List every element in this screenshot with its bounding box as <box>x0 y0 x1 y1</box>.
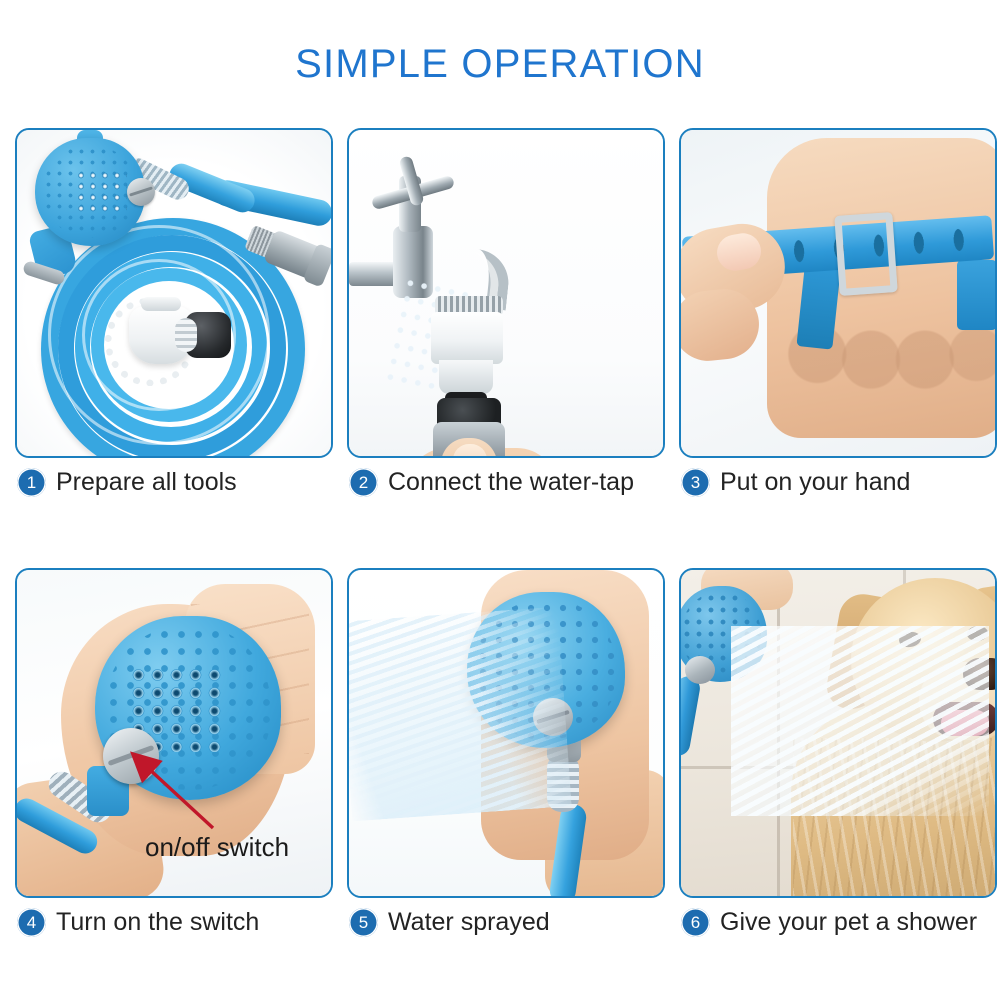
step-5-caption: 5 Water sprayed <box>349 908 550 937</box>
step-card-4: on/off switch 4 Turn on the switch <box>15 568 331 1008</box>
step-caption-text: Connect the water-tap <box>388 468 634 497</box>
step-1-frame <box>15 128 333 458</box>
onoff-switch-knob <box>127 178 155 206</box>
annotation-arrow-icon <box>125 748 225 834</box>
step-caption-text: Turn on the switch <box>56 908 259 937</box>
step-badge: 3 <box>681 468 710 497</box>
step-badge: 6 <box>681 908 710 937</box>
step-6-caption: 6 Give your pet a shower <box>681 908 977 937</box>
step-1-photo <box>17 130 331 456</box>
step-badge: 2 <box>349 468 378 497</box>
step-4-caption: 4 Turn on the switch <box>17 908 259 937</box>
step-caption-text: Give your pet a shower <box>720 908 977 937</box>
page-title: SIMPLE OPERATION <box>0 42 1000 87</box>
infographic-page: SIMPLE OPERATION <box>0 0 1000 1000</box>
step-badge: 1 <box>17 468 46 497</box>
step-card-3: 3 Put on your hand <box>679 128 995 568</box>
strap-buckle <box>834 212 897 296</box>
step-card-1: 1 Prepare all tools <box>15 128 331 568</box>
step-3-caption: 3 Put on your hand <box>681 468 910 497</box>
step-badge: 5 <box>349 908 378 937</box>
step-card-5: 5 Water sprayed <box>347 568 663 1008</box>
strap-tail <box>957 260 995 330</box>
step-card-2: 2 Connect the water-tap <box>347 128 663 568</box>
step-6-photo <box>681 570 995 896</box>
step-3-frame <box>679 128 997 458</box>
step-1-caption: 1 Prepare all tools <box>17 468 237 497</box>
step-caption-text: Prepare all tools <box>56 468 237 497</box>
step-4-photo: on/off switch <box>17 570 331 896</box>
steps-row-bottom: on/off switch 4 Turn on the switch <box>15 568 995 1008</box>
adapter-lower-neck <box>439 360 493 394</box>
sprayer-jet-holes <box>75 170 127 216</box>
steps-row-top: 1 Prepare all tools <box>15 128 995 568</box>
onoff-switch-annotation-label: on/off switch <box>145 832 289 863</box>
step-4-frame: on/off switch <box>15 568 333 898</box>
step-badge: 4 <box>17 908 46 937</box>
steps-grid: 1 Prepare all tools <box>15 128 995 1008</box>
water-spray <box>731 626 989 816</box>
step-6-frame <box>679 568 997 898</box>
step-caption-text: Put on your hand <box>720 468 910 497</box>
onoff-switch <box>685 656 715 684</box>
step-2-frame <box>347 128 665 458</box>
step-3-photo <box>681 130 995 456</box>
white-faucet-adapter <box>431 312 503 364</box>
step-card-6: 6 Give your pet a shower <box>679 568 995 1008</box>
step-caption-text: Water sprayed <box>388 908 550 937</box>
step-2-photo <box>349 130 663 456</box>
step-5-frame <box>347 568 665 898</box>
step-2-caption: 2 Connect the water-tap <box>349 468 634 497</box>
water-spray <box>349 607 572 822</box>
black-adapter <box>185 312 231 358</box>
step-5-photo <box>349 570 663 896</box>
